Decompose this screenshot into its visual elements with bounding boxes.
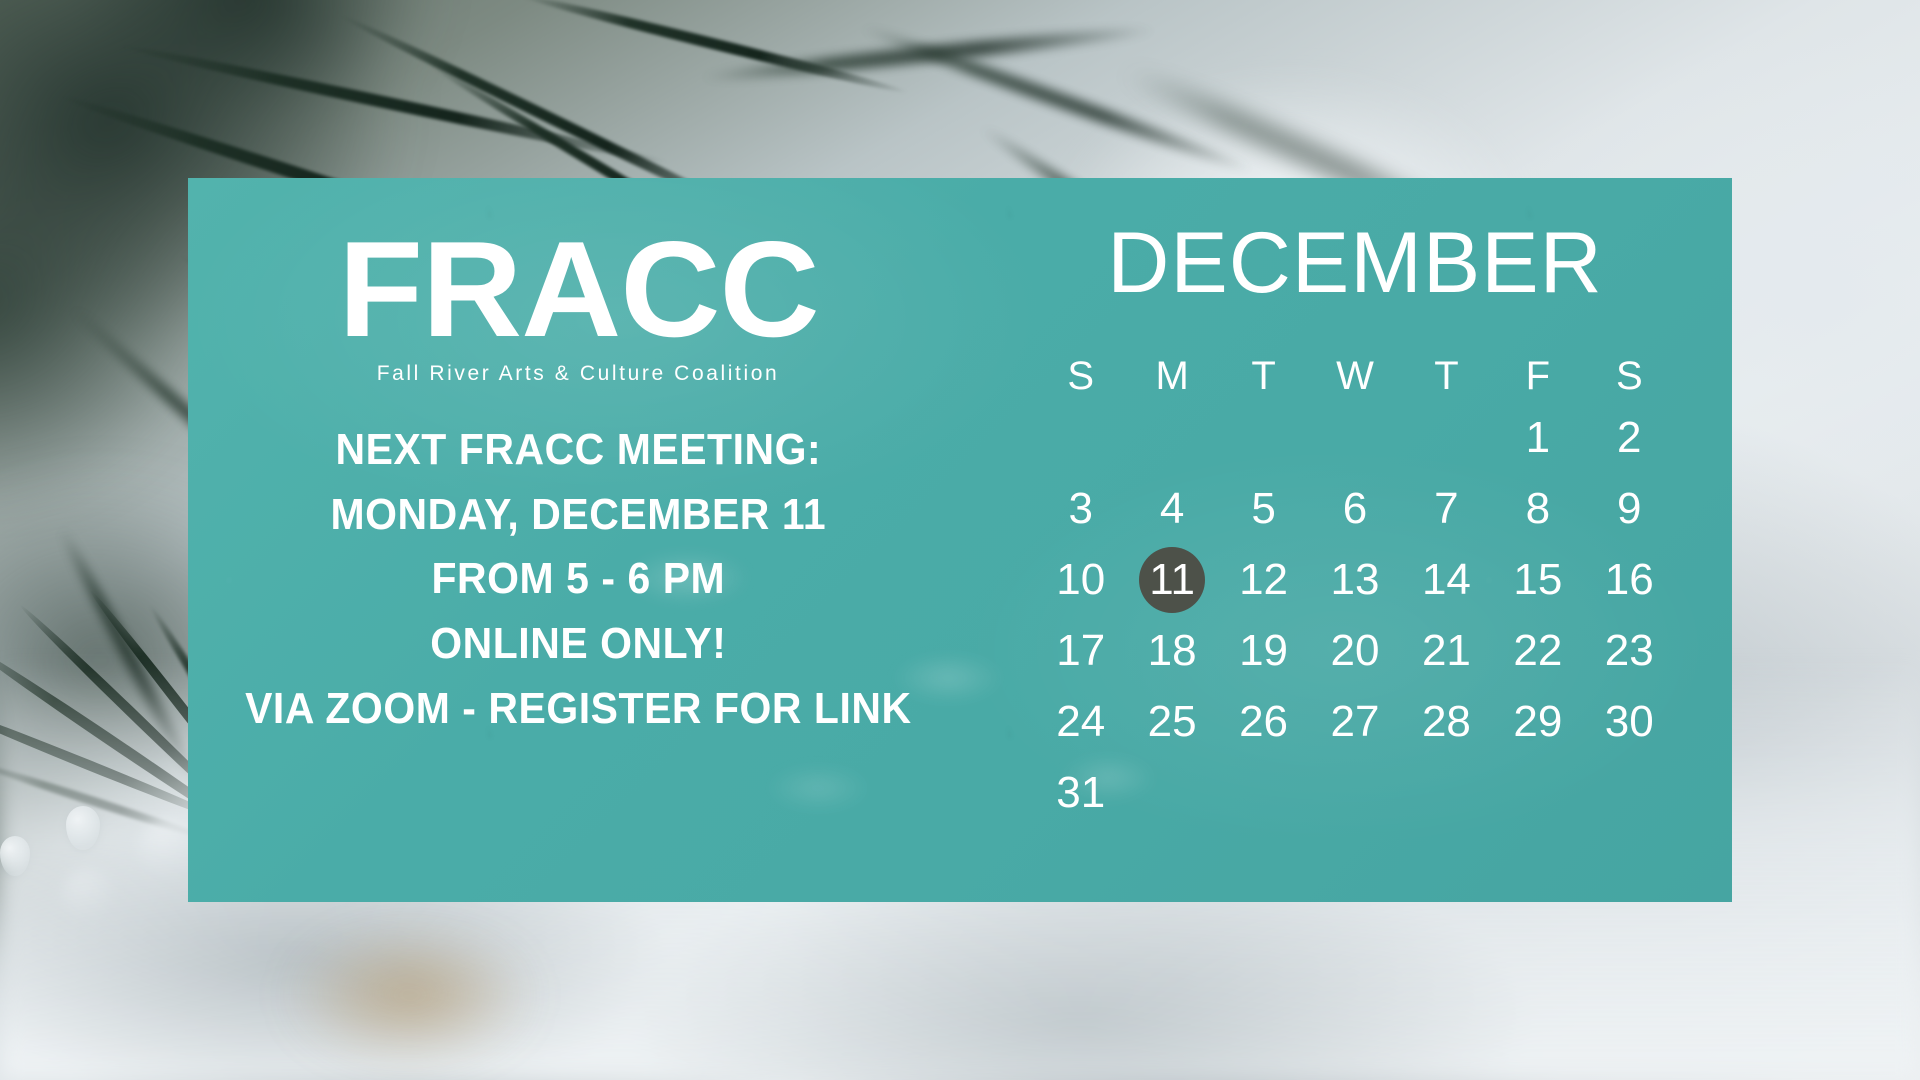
calendar-day-number: 21	[1422, 629, 1471, 673]
announcement-line: NEXT FRACC MEETING:	[245, 420, 912, 481]
calendar-day-cell[interactable]: 10	[1035, 544, 1126, 615]
calendar-day-number: 2	[1617, 416, 1641, 460]
calendar-day-number: 4	[1160, 487, 1184, 531]
calendar-day-number: 6	[1343, 487, 1367, 531]
calendar-day-cell	[1309, 757, 1400, 828]
calendar-day-number: 31	[1056, 771, 1105, 815]
calendar-day-cell	[1401, 757, 1492, 828]
calendar-day-cell[interactable]: 15	[1492, 544, 1583, 615]
calendar-day-number: 11	[1149, 558, 1195, 602]
calendar-day-cell[interactable]: 16	[1584, 544, 1675, 615]
calendar-day-number: 26	[1239, 700, 1288, 744]
calendar-day-cell[interactable]: 1	[1492, 402, 1583, 473]
announcement-block: NEXT FRACC MEETING: MONDAY, DECEMBER 11 …	[220, 420, 937, 740]
calendar-day-cell[interactable]	[1126, 402, 1217, 473]
left-column: FRACC Fall River Arts & Culture Coalitio…	[188, 178, 968, 902]
poster-canvas: FRACC Fall River Arts & Culture Coalitio…	[0, 0, 1920, 1080]
calendar-day-cell[interactable]	[1401, 402, 1492, 473]
calendar-day-number: 8	[1526, 487, 1550, 531]
calendar-day-number: 13	[1331, 558, 1380, 602]
teal-content-panel: FRACC Fall River Arts & Culture Coalitio…	[188, 178, 1732, 902]
calendar-day-number: 18	[1148, 629, 1197, 673]
calendar-day-number: 12	[1239, 558, 1288, 602]
calendar-day-number: 7	[1434, 487, 1458, 531]
fracc-logo: FRACC Fall River Arts & Culture Coalitio…	[343, 226, 814, 386]
calendar-day-cell[interactable]: 5	[1218, 473, 1309, 544]
weekday-header-wed: W	[1309, 350, 1400, 402]
calendar-day-number: 24	[1056, 700, 1105, 744]
announcement-line: MONDAY, DECEMBER 11	[245, 485, 912, 546]
calendar-day-cell[interactable]: 21	[1401, 615, 1492, 686]
calendar-day-cell[interactable]: 22	[1492, 615, 1583, 686]
calendar-day-cell[interactable]	[1035, 402, 1126, 473]
december-calendar: DECEMBER S M T W T F S 1 2 3 4 5 6	[978, 178, 1732, 902]
calendar-day-cell[interactable]: 20	[1309, 615, 1400, 686]
weekday-header-mon: M	[1126, 350, 1217, 402]
calendar-day-cell[interactable]: 25	[1126, 686, 1217, 757]
weekday-header-tue: T	[1218, 350, 1309, 402]
calendar-day-cell[interactable]	[1309, 402, 1400, 473]
calendar-grid: S M T W T F S 1 2 3 4 5 6 7 8 9	[1035, 350, 1675, 828]
calendar-day-cell[interactable]: 4	[1126, 473, 1217, 544]
calendar-day-number: 3	[1068, 487, 1092, 531]
calendar-day-cell	[1492, 757, 1583, 828]
weekday-header-fri: F	[1492, 350, 1583, 402]
calendar-day-cell[interactable]: 2	[1584, 402, 1675, 473]
calendar-day-cell[interactable]: 6	[1309, 473, 1400, 544]
calendar-day-cell[interactable]	[1218, 402, 1309, 473]
calendar-day-cell-selected[interactable]: 11	[1126, 544, 1217, 615]
calendar-day-cell[interactable]: 3	[1035, 473, 1126, 544]
calendar-day-number: 9	[1617, 487, 1641, 531]
calendar-day-cell[interactable]: 17	[1035, 615, 1126, 686]
calendar-day-number: 1	[1526, 416, 1550, 460]
calendar-day-cell[interactable]: 14	[1401, 544, 1492, 615]
calendar-day-number: 10	[1056, 558, 1105, 602]
calendar-day-number: 19	[1239, 629, 1288, 673]
calendar-day-cell[interactable]: 28	[1401, 686, 1492, 757]
calendar-day-number: 22	[1513, 629, 1562, 673]
warm-tone-patch	[240, 900, 580, 1080]
announcement-line: ONLINE ONLY!	[245, 614, 912, 675]
weekday-header-sun: S	[1035, 350, 1126, 402]
calendar-day-number: 20	[1331, 629, 1380, 673]
calendar-day-number: 29	[1513, 700, 1562, 744]
calendar-day-number: 16	[1605, 558, 1654, 602]
calendar-day-cell[interactable]: 13	[1309, 544, 1400, 615]
logo-tagline: Fall River Arts & Culture Coalition	[343, 362, 814, 386]
calendar-day-cell	[1126, 757, 1217, 828]
calendar-day-number: 15	[1513, 558, 1562, 602]
calendar-day-cell[interactable]: 31	[1035, 757, 1126, 828]
weekday-header-thu: T	[1401, 350, 1492, 402]
calendar-day-cell[interactable]: 29	[1492, 686, 1583, 757]
calendar-day-number: 25	[1148, 700, 1197, 744]
calendar-day-number: 28	[1422, 700, 1471, 744]
calendar-day-cell[interactable]: 18	[1126, 615, 1217, 686]
calendar-day-number: 14	[1422, 558, 1471, 602]
announcement-line: VIA ZOOM - REGISTER FOR LINK	[245, 679, 912, 740]
calendar-day-cell[interactable]: 9	[1584, 473, 1675, 544]
calendar-day-number: 27	[1331, 700, 1380, 744]
calendar-day-number: 30	[1605, 700, 1654, 744]
calendar-day-cell[interactable]: 7	[1401, 473, 1492, 544]
calendar-day-cell[interactable]: 27	[1309, 686, 1400, 757]
logo-wordmark: FRACC	[338, 226, 818, 354]
calendar-day-cell[interactable]: 26	[1218, 686, 1309, 757]
calendar-day-number: 23	[1605, 629, 1654, 673]
calendar-day-cell	[1584, 757, 1675, 828]
calendar-month-title: DECEMBER	[978, 220, 1732, 306]
calendar-day-cell	[1218, 757, 1309, 828]
weekday-header-sat: S	[1584, 350, 1675, 402]
calendar-day-number: 5	[1251, 487, 1275, 531]
calendar-day-cell[interactable]: 8	[1492, 473, 1583, 544]
calendar-day-cell[interactable]: 12	[1218, 544, 1309, 615]
calendar-day-cell[interactable]: 30	[1584, 686, 1675, 757]
calendar-day-cell[interactable]: 19	[1218, 615, 1309, 686]
calendar-day-cell[interactable]: 24	[1035, 686, 1126, 757]
announcement-line: FROM 5 - 6 PM	[245, 549, 912, 610]
calendar-day-number: 17	[1056, 629, 1105, 673]
calendar-day-cell[interactable]: 23	[1584, 615, 1675, 686]
